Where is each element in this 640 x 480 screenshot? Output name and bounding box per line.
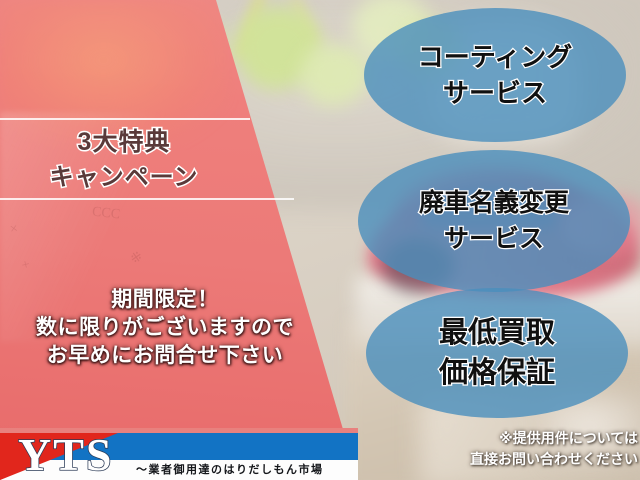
logo-tagline: 〜業者御用達のはりだしもん市場 (136, 461, 358, 479)
service-line2: サービス (443, 78, 547, 108)
service-bubble-coating[interactable]: コーティングサービス (364, 8, 626, 142)
brand-logo-bar[interactable]: YTS 〜業者御用達のはりだしもん市場 (0, 428, 358, 480)
disclaimer-line1: ※提供用件については (400, 428, 638, 449)
promotional-banner: × CCC + ※ 3大特典 キャンペーン 期間限定！ 数に限りがございますので… (0, 0, 640, 480)
headline-divider-bottom (0, 198, 294, 200)
service-bubble-scrap-transfer[interactable]: 廃車名義変更サービス (358, 150, 630, 292)
promo-line1: 期間限定！ (0, 286, 330, 314)
promo-line2: 数に限りがございますので (0, 314, 330, 342)
service-line1: 廃車名義変更 (419, 189, 569, 217)
service-line2: サービス (444, 225, 544, 253)
campaign-headline-line1: 3大特典 (0, 124, 248, 160)
service-bubble-coating-label: コーティングサービス (418, 39, 572, 111)
service-line2: 価格保証 (439, 357, 555, 389)
headline-divider-top (0, 118, 250, 120)
disclaimer-note: ※提供用件については 直接お問い合わせください (400, 428, 640, 470)
service-bubble-price-guarantee[interactable]: 最低買取価格保証 (366, 288, 628, 418)
service-line1: コーティング (418, 42, 572, 72)
campaign-headline: 3大特典 キャンペーン (0, 124, 248, 196)
doodle-mark: CCC (91, 205, 121, 224)
service-bubble-price-guarantee-label: 最低買取価格保証 (439, 313, 555, 393)
campaign-headline-line2: キャンペーン (0, 160, 248, 196)
promo-message: 期間限定！ 数に限りがございますので お早めにお問合せ下さい (0, 286, 330, 370)
service-line1: 最低買取 (439, 317, 555, 349)
logo-wordmark: YTS (18, 430, 113, 480)
promo-line3: お早めにお問合せ下さい (0, 342, 330, 370)
disclaimer-line2: 直接お問い合わせください (400, 449, 638, 470)
service-bubble-scrap-transfer-label: 廃車名義変更サービス (419, 185, 569, 257)
